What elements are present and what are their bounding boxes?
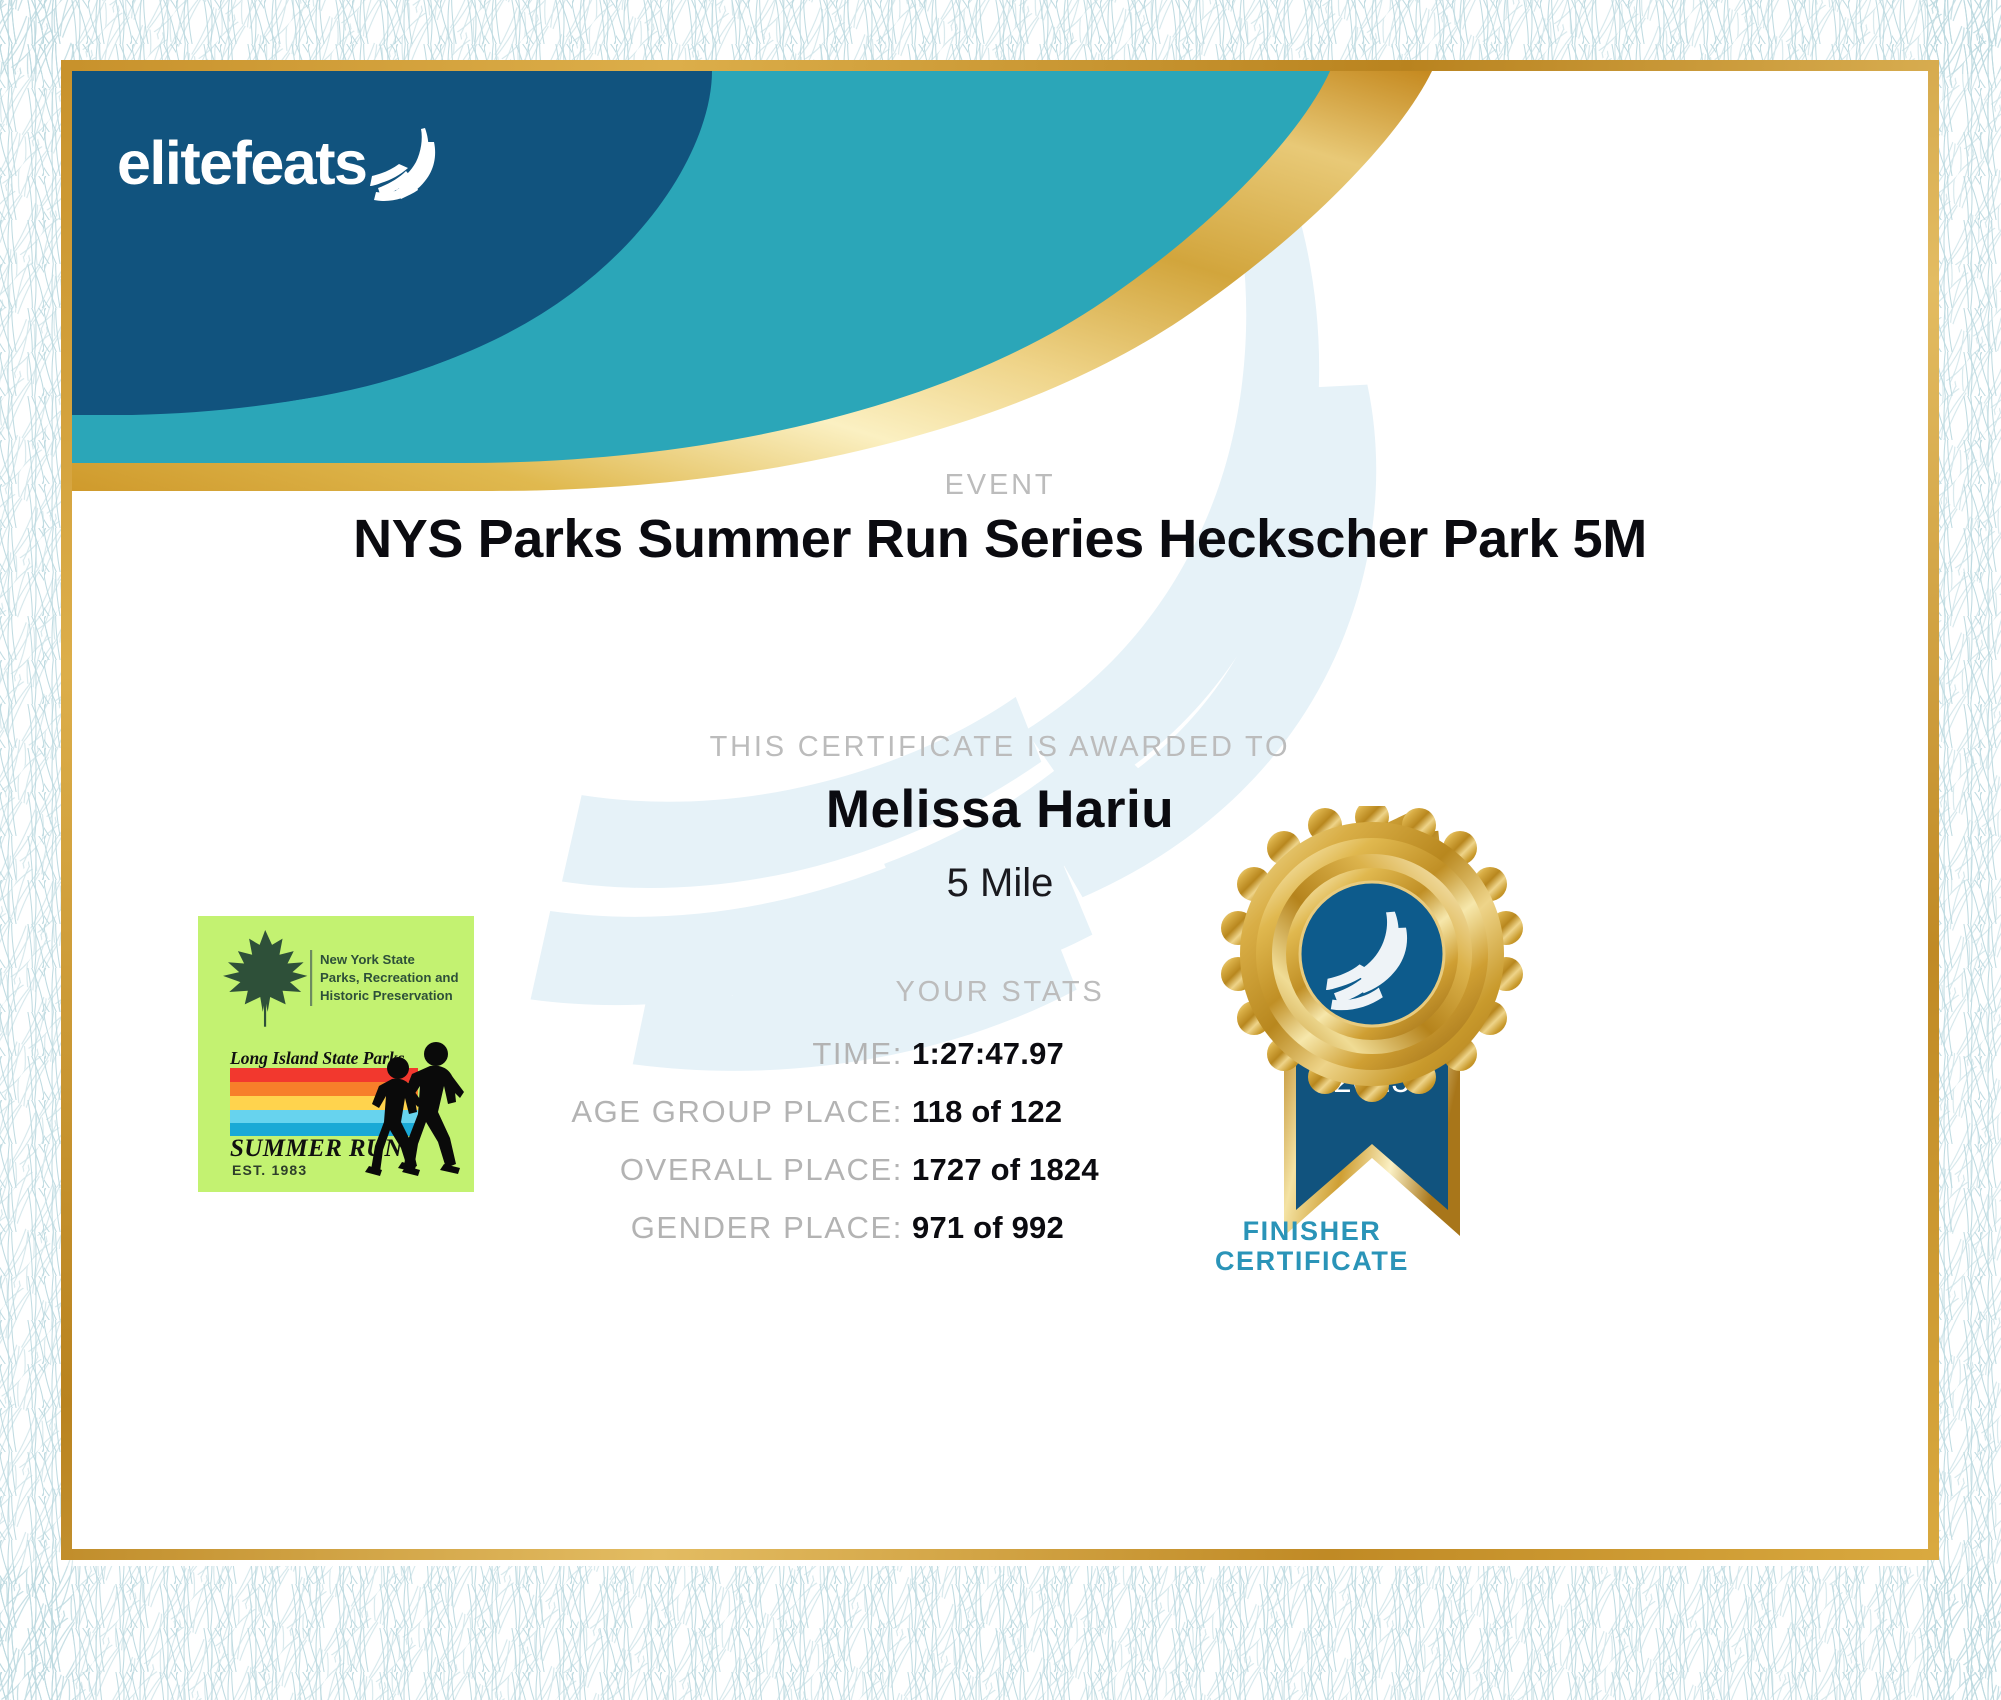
certificate-frame: elitefeats EVENT NYS Parks Summer Run Se…: [61, 60, 1939, 1560]
finisher-certificate-caption: FINISHER CERTIFICATE: [1162, 1216, 1462, 1276]
finisher-caption-line2: CERTIFICATE: [1162, 1246, 1462, 1276]
stat-value-gender-place: 971 of 992: [912, 1210, 1064, 1246]
medal-scalloped-outer: [1221, 806, 1523, 1102]
sponsor-agency-line1: New York State: [320, 952, 415, 967]
sponsor-agency-line3: Historic Preservation: [320, 988, 453, 1003]
sponsor-series-name: Long Island State Parks: [229, 1048, 405, 1068]
sponsor-logo-nys-parks-summer-run: New York State Parks, Recreation and His…: [198, 916, 474, 1192]
sponsor-established: EST. 1983: [232, 1162, 307, 1178]
stat-label-gender-place: GENDER PLACE:: [72, 1210, 912, 1246]
finisher-caption-line1: FINISHER: [1162, 1216, 1462, 1246]
stat-value-age-group-place: 118 of 122: [912, 1094, 1062, 1130]
table-row: GENDER PLACE: 971 of 992: [72, 1210, 1928, 1246]
race-distance: 5 Mile: [72, 861, 1928, 906]
recipient-name: Melissa Hariu: [72, 779, 1928, 840]
event-title: NYS Parks Summer Run Series Heckscher Pa…: [72, 508, 1928, 570]
stat-value-time: 1:27:47.97: [912, 1036, 1064, 1072]
event-label: EVENT: [72, 469, 1928, 502]
stat-value-overall-place: 1727 of 1824: [912, 1152, 1099, 1188]
sponsor-agency-line2: Parks, Recreation and: [320, 970, 459, 985]
awarded-to-label: THIS CERTIFICATE IS AWARDED TO: [72, 731, 1928, 764]
finisher-medal-badge: 2023: [1212, 806, 1532, 1271]
